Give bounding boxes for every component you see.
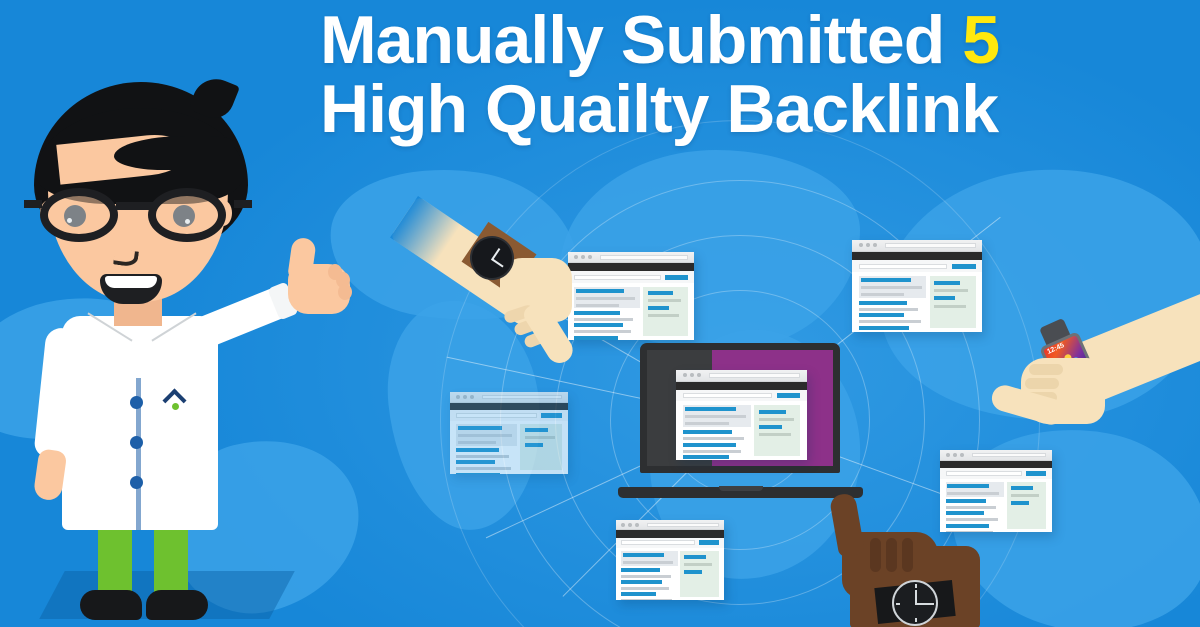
result-item[interactable] (683, 430, 751, 440)
knowledge-panel (520, 424, 562, 470)
result-item[interactable] (456, 448, 517, 458)
finger-fold (902, 538, 913, 572)
sponsored-result[interactable] (456, 424, 517, 446)
window-dot-icon (456, 395, 460, 399)
result-item[interactable] (621, 568, 677, 578)
address-bar[interactable] (647, 523, 718, 527)
green-dot-icon (172, 403, 179, 410)
card-nav-strip (616, 530, 724, 537)
glasses-icon (36, 188, 241, 242)
window-dot-icon (628, 523, 632, 527)
result-item[interactable] (683, 443, 751, 453)
thumbs-up-icon (284, 238, 358, 316)
browser-card-bottom-left[interactable] (616, 520, 724, 600)
teeth (105, 276, 157, 288)
browser-card-laptop[interactable] (676, 370, 807, 460)
browser-card-top-right[interactable] (852, 240, 982, 332)
banner-canvas: Manually Submitted 5 High Quailty Backli… (0, 0, 1200, 627)
sponsored-result[interactable] (621, 551, 677, 565)
result-item[interactable] (621, 592, 677, 600)
address-bar[interactable] (600, 255, 687, 260)
eye-right (173, 205, 195, 227)
analog-watch-icon (892, 580, 938, 626)
window-dot-icon (953, 453, 957, 457)
coat-button (130, 436, 143, 449)
window-dot-icon (683, 373, 687, 377)
knowledge-panel (680, 551, 718, 597)
glasses-temple-right (234, 200, 252, 208)
headline-count: 5 (962, 2, 999, 78)
window-dot-icon (866, 243, 870, 247)
coat-button (130, 476, 143, 489)
pointing-hand-right: 12:45 (985, 300, 1200, 480)
headline-line-1-text: Manually Submitted (320, 2, 944, 78)
window-dot-icon (470, 395, 474, 399)
banner-headline: Manually Submitted 5 High Quailty Backli… (320, 6, 1170, 145)
glasses-bridge (116, 202, 156, 210)
headline-line-1: Manually Submitted 5 (320, 6, 1170, 75)
window-dot-icon (859, 243, 863, 247)
knowledge-panel (754, 405, 800, 456)
address-bar[interactable] (885, 243, 976, 248)
sponsored-result[interactable] (859, 276, 927, 298)
shoe-left (80, 590, 142, 620)
search-input[interactable] (683, 393, 773, 398)
search-input[interactable] (859, 264, 948, 269)
window-dot-icon (635, 523, 639, 527)
knowledge-panel (1007, 482, 1047, 529)
card-nav-strip (676, 382, 807, 390)
glasses-temple-left (24, 200, 42, 208)
card-nav-strip (450, 403, 568, 410)
search-button[interactable] (777, 393, 801, 398)
finger-fold (1029, 364, 1063, 375)
window-dot-icon (690, 373, 694, 377)
search-button[interactable] (952, 264, 975, 269)
finger-fold (870, 538, 881, 572)
card-nav-strip (852, 252, 982, 260)
coat-button (130, 396, 143, 409)
mascot-character (18, 78, 348, 627)
window-dot-icon (463, 395, 467, 399)
shoe-right (146, 590, 208, 620)
window-dot-icon (946, 453, 950, 457)
pointing-hand-top-left (418, 196, 598, 368)
search-button[interactable] (665, 275, 688, 280)
search-input[interactable] (456, 413, 537, 418)
window-dot-icon (873, 243, 877, 247)
address-bar[interactable] (482, 395, 562, 399)
browser-card-mid-left[interactable] (450, 392, 568, 474)
window-dot-icon (621, 523, 625, 527)
knowledge-panel (643, 287, 687, 337)
knowledge-panel (930, 276, 976, 328)
window-dot-icon (697, 373, 701, 377)
result-item[interactable] (456, 473, 517, 474)
search-button[interactable] (541, 413, 562, 418)
result-item[interactable] (859, 326, 927, 332)
laptop-notch (719, 486, 763, 491)
index-finger (829, 492, 865, 558)
result-item[interactable] (859, 313, 927, 323)
search-input[interactable] (621, 540, 695, 545)
result-item[interactable] (859, 301, 927, 311)
search-button[interactable] (699, 540, 718, 545)
address-bar[interactable] (709, 373, 801, 378)
finger-fold (1025, 378, 1059, 389)
coat-logo-badge (162, 390, 188, 410)
window-dot-icon (960, 453, 964, 457)
result-item[interactable] (683, 455, 751, 460)
result-item[interactable] (621, 580, 677, 590)
laptop (618, 343, 863, 498)
result-item[interactable] (456, 460, 517, 470)
pointing-hand-bottom (830, 492, 1000, 627)
eye-left (64, 205, 86, 227)
headline-line-2: High Quailty Backlink (320, 75, 1170, 144)
finger-fold (886, 538, 897, 572)
sponsored-result[interactable] (683, 405, 751, 427)
